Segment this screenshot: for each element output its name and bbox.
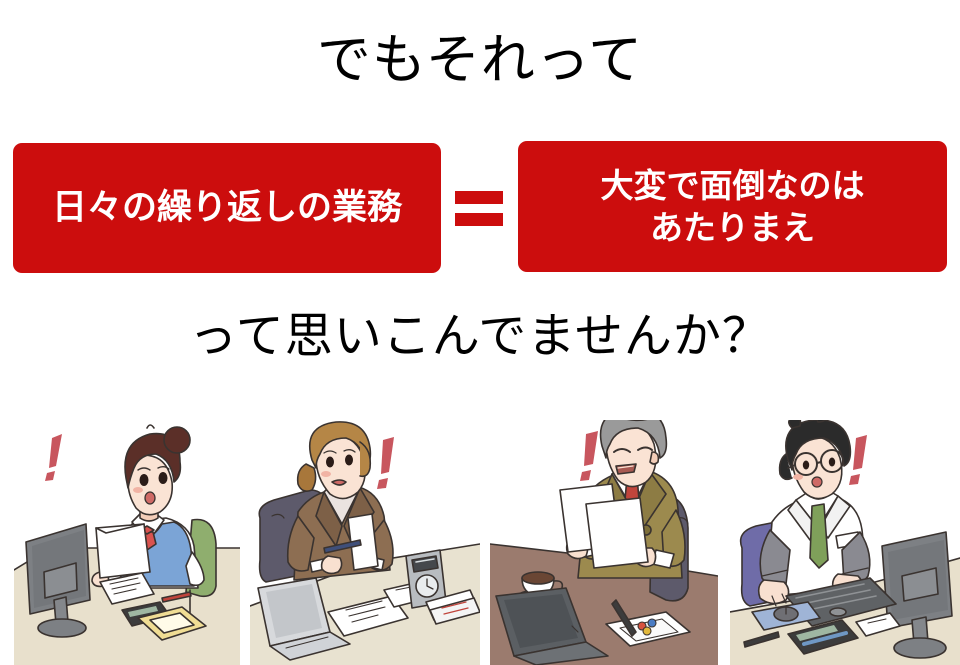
slide-canvas: でもそれって 日々の繰り返しの業務 大変で面倒なのは あたりまえ って思いこんで… [0, 0, 960, 665]
equals-bar-top [455, 191, 503, 204]
equation-left-box[interactable]: 日々の繰り返しの業務 [13, 143, 441, 273]
page-title: でもそれって [0, 32, 960, 89]
equation-right-label-line1: 大変で面倒なのは [601, 166, 865, 205]
equation-right-box[interactable]: 大変で面倒なのは あたりまえ [518, 141, 947, 272]
equals-sign-icon [455, 185, 503, 231]
equation-right-label: 大変で面倒なのは あたりまえ [601, 165, 865, 248]
illustration-panel-senior-manager [490, 420, 718, 665]
illustration-panel-businesswoman [250, 420, 480, 665]
equals-bar-bottom [455, 213, 503, 226]
illustration-strip [0, 420, 960, 665]
equation-left-label: 日々の繰り返しの業務 [52, 189, 402, 228]
illustration-panel-man-typing [730, 420, 960, 665]
illustration-panel-office-woman [14, 420, 240, 665]
page-subtitle: って思いこんでませんか？ [0, 310, 960, 363]
equation-right-label-line2: あたりまえ [650, 208, 815, 247]
